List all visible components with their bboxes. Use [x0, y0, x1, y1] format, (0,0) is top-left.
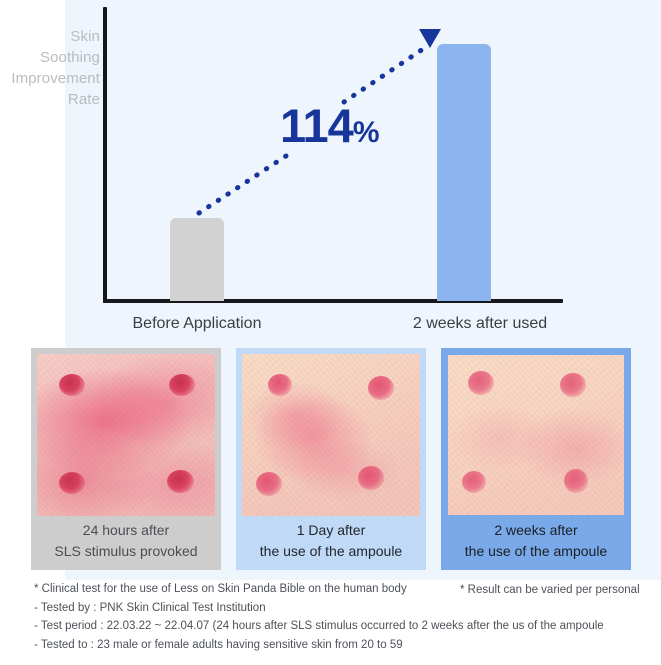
photo-card-caption: 2 weeks after the use of the ampoule [441, 520, 631, 562]
skin-photo-before [37, 354, 215, 516]
photo-card-one-day: 1 Day after the use of the ampoule [236, 348, 426, 570]
skin-spot [468, 371, 494, 395]
skin-spot [59, 472, 85, 494]
skin-spot [169, 374, 195, 396]
footnote-disclaimer: * Result can be varied per personal [460, 581, 640, 600]
photo-comparison-row: 24 hours after SLS stimulus provoked 1 D… [31, 348, 631, 570]
growth-trend-arrow [0, 0, 661, 345]
photo-card-two-weeks: 2 weeks after the use of the ampoule [441, 348, 631, 570]
footnote-line: - Tested by : PNK Skin Clinical Test Ins… [34, 599, 634, 618]
skin-spot [358, 466, 384, 490]
skin-spot [462, 471, 486, 493]
skin-spot [564, 469, 588, 493]
x-tick-before-application: Before Application [93, 315, 301, 333]
photo-card-caption: 24 hours after SLS stimulus provoked [31, 520, 221, 562]
percent-number: 114 [280, 99, 353, 152]
percent-symbol: % [353, 116, 380, 149]
footnote-line: - Tested to : 23 male or female adults h… [34, 636, 634, 655]
dotted-line-upper [344, 49, 423, 102]
skin-photo-one-day [242, 354, 420, 516]
skin-spot [59, 374, 85, 396]
skin-spot [268, 374, 292, 396]
x-tick-2-weeks-after-used: 2 weeks after used [360, 315, 600, 333]
skin-spot [560, 373, 586, 397]
dotted-line-lower [199, 156, 286, 213]
skin-spot [368, 376, 394, 400]
skin-spot [167, 470, 194, 493]
photo-card-before: 24 hours after SLS stimulus provoked [31, 348, 221, 570]
improvement-percentage: 114% [280, 102, 380, 149]
bar-chart: Skin Soothing Improvement Rate 114% Befo… [0, 0, 661, 345]
footnote-line: - Test period : 22.03.22 ~ 22.04.07 (24 … [34, 617, 634, 636]
arrow-head-icon [419, 29, 441, 48]
skin-photo-two-weeks [448, 355, 624, 515]
skin-spot [256, 472, 282, 496]
photo-card-caption: 1 Day after the use of the ampoule [236, 520, 426, 562]
infographic-root: Skin Soothing Improvement Rate 114% Befo… [0, 0, 661, 665]
